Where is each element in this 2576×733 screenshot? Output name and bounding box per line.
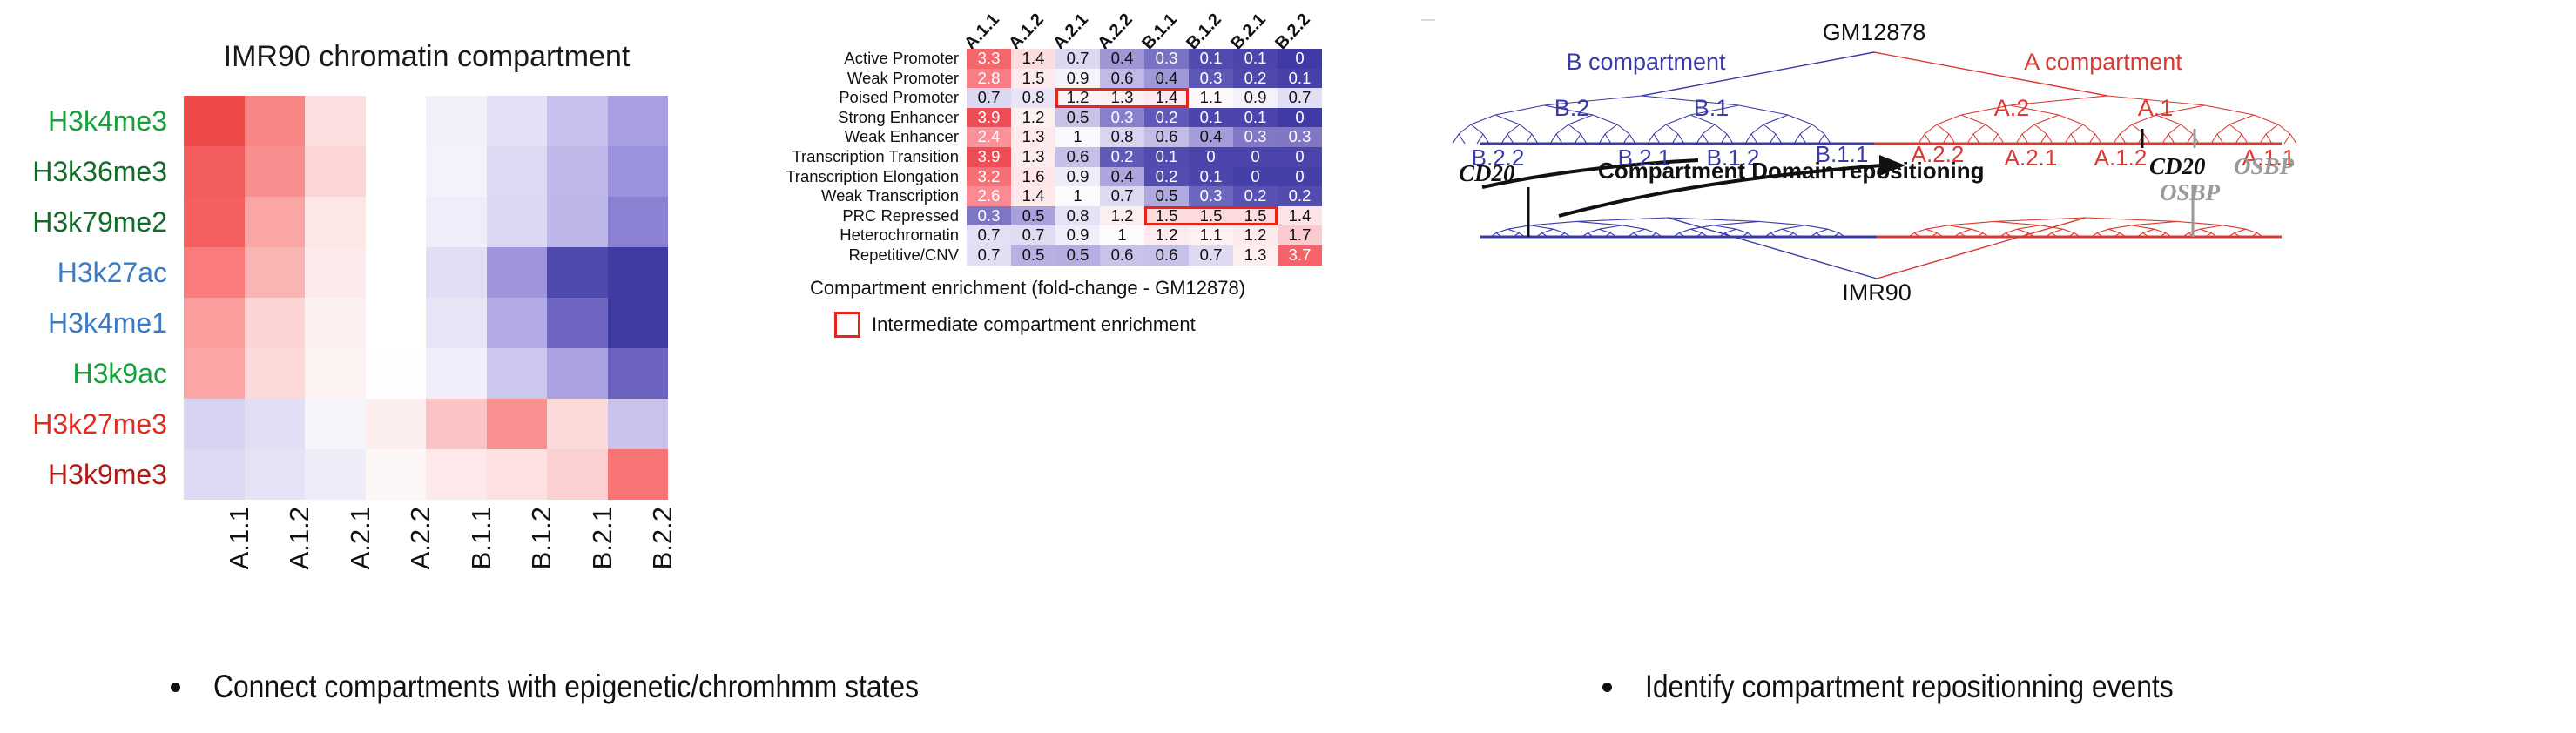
heatmap-cell (426, 449, 487, 500)
table-cell: 1.2 (1055, 88, 1100, 108)
dendrogram-branch (1605, 134, 1611, 144)
dendrogram-branch (1459, 124, 1471, 134)
table-cell: 0.5 (1055, 108, 1100, 128)
dendrogram-branch (2097, 229, 2108, 232)
dendrogram-branch (1477, 134, 1483, 144)
table-cell: 0.1 (1189, 49, 1233, 69)
label-b2: B.2 (1554, 95, 1590, 121)
table-row: Poised Promoter0.70.81.21.31.41.10.90.7 (723, 88, 1322, 108)
dendrogram-branch (1715, 124, 1727, 134)
dendrogram-branch (2155, 229, 2166, 232)
heatmap-cell (366, 399, 427, 449)
heatmap-column-label: A.1.2 (245, 503, 306, 616)
dendrogram-branch (2095, 134, 2101, 144)
label-b-compartment: B compartment (1566, 49, 1726, 75)
dendrogram-branch (2143, 229, 2155, 232)
table-cell: 0.7 (967, 245, 1011, 266)
dendrogram-branch (2181, 124, 2193, 134)
table-cell: 0.6 (1055, 147, 1100, 167)
table-cell: 0 (1278, 147, 1322, 167)
dendrogram-branch (1556, 134, 1562, 144)
dendrogram-branch (1568, 124, 1581, 134)
dendrogram-branch (2168, 124, 2181, 134)
label-cd20-bottom: CD20 (1459, 160, 1515, 186)
table-row-label: Weak Transcription (723, 186, 967, 206)
table-cell: 0.4 (1100, 49, 1144, 69)
dendrogram-branch (1554, 229, 1565, 232)
label-a21: A.2.1 (2005, 145, 2058, 171)
dendrogram-branch (1622, 225, 1645, 229)
table-legend: Intermediate compartment enrichment (834, 312, 1196, 338)
label-a1: A.1 (2138, 95, 2174, 121)
heatmap-cell (608, 348, 669, 399)
dendrogram-branch (1696, 134, 1703, 144)
table-row: Weak Promoter2.81.50.90.60.40.30.20.1 (723, 69, 1322, 89)
dendrogram-branch (1501, 134, 1507, 144)
dendrogram-branch (1994, 218, 2086, 221)
dendrogram-branch (2260, 134, 2266, 144)
table-row-label: Repetitive/CNV (723, 245, 967, 266)
heatmap-cell (487, 247, 548, 298)
table-cell: 0.7 (1189, 245, 1233, 266)
table-row-label: Heterochromatin (723, 225, 967, 245)
label-osbp-top: OSBP (2234, 153, 2295, 179)
heatmap-cell (366, 348, 427, 399)
dendrogram-branch (1599, 225, 1622, 229)
table-cell: 1.2 (1233, 225, 1278, 245)
dendrogram-branch (1794, 134, 1800, 144)
table-row-label: Weak Promoter (723, 69, 967, 89)
dendrogram-branch (1739, 105, 1788, 115)
heatmap-cell (608, 247, 669, 298)
table-cell: 0.4 (1189, 127, 1233, 147)
dendrogram-branch (1668, 218, 1877, 279)
heatmap-cell (366, 449, 427, 500)
heatmap-cell (487, 399, 548, 449)
heatmap-cell (184, 298, 245, 348)
dendrogram-branch (1668, 218, 1759, 221)
heatmap-cell (366, 96, 427, 146)
table-cell: 0.9 (1233, 88, 1278, 108)
dendrogram-branch (1992, 134, 1998, 144)
table-cell: 1 (1100, 225, 1144, 245)
dendrogram-branch (1542, 229, 1554, 232)
dendrogram-branch (2065, 134, 2071, 144)
table-cell: 0.9 (1055, 69, 1100, 89)
table-row: Repetitive/CNV0.70.50.50.60.60.71.33.7 (723, 245, 1322, 266)
table-cell: 0.9 (1055, 167, 1100, 187)
table-cell: 3.9 (967, 108, 1011, 128)
dendrogram-branch (1877, 218, 2086, 279)
dendrogram-branch (1576, 218, 1668, 221)
table-row-cells: 3.91.20.50.30.20.10.10 (967, 108, 1322, 128)
table-column-label: B.1.2 (1189, 7, 1233, 52)
dendrogram-branch (1599, 134, 1605, 144)
dendrogram-branch (1531, 221, 1577, 225)
table-cell: 0.3 (1233, 127, 1278, 147)
dendrogram-branch (1690, 229, 1702, 232)
dendrogram-branch (1782, 225, 1804, 229)
heatmap-cell (608, 399, 669, 449)
dendrogram-branch (1994, 221, 2040, 225)
table-row-label: PRC Repressed (723, 206, 967, 226)
table-row-label: Transcription Elongation (723, 167, 967, 187)
table-cell: 0.1 (1278, 69, 1322, 89)
dendrogram-branch (1770, 134, 1776, 144)
dendrogram-branch (2022, 124, 2034, 134)
dendrogram-branch (1459, 134, 1465, 144)
dendrogram-branch (1828, 229, 1839, 232)
dendrogram-branch (1593, 115, 1617, 124)
dendrogram-branch (1721, 134, 1727, 144)
dendrogram-branch (2177, 221, 2223, 225)
table-cell: 1 (1055, 127, 1100, 147)
table-cell: 0 (1278, 167, 1322, 187)
dendrogram-branch (2187, 134, 2193, 144)
heatmap-cell (366, 247, 427, 298)
heatmap-cell (245, 146, 306, 197)
dendrogram-branch (2120, 134, 2126, 144)
table-cell: 1.5 (1144, 206, 1189, 226)
table-column-label: A.2.2 (1100, 7, 1144, 52)
table-cell: 3.2 (967, 167, 1011, 187)
table-cell: 0.2 (1144, 167, 1189, 187)
table-cell: 0.3 (967, 206, 1011, 226)
dendrogram-branch (2059, 115, 2083, 124)
dendrogram-branch (1679, 229, 1690, 232)
dendrogram-branch (1678, 134, 1684, 144)
heatmap-column-label: A.2.1 (305, 503, 366, 616)
heatmap-cell (184, 399, 245, 449)
table-cell: 0.2 (1233, 186, 1278, 206)
table-cell: 0.2 (1278, 186, 1322, 206)
heatmap-cell (184, 197, 245, 247)
dendrogram-branch (1666, 124, 1678, 134)
table-cell: 1.3 (1011, 147, 1055, 167)
dendrogram-branch (1763, 115, 1788, 124)
heatmap-column-label: B.1.1 (426, 503, 487, 616)
table-cell: 0.7 (967, 88, 1011, 108)
dendrogram-branch (2284, 134, 2290, 144)
heatmap-cell (487, 96, 548, 146)
table-row-cells: 2.41.310.80.60.40.30.3 (967, 127, 1322, 147)
label-gm12878: GM12878 (1823, 19, 1926, 45)
dendrogram-branch (2034, 115, 2059, 124)
heatmap-cell (487, 197, 548, 247)
dendrogram-branch (1967, 134, 1973, 144)
heatmap-cell (245, 298, 306, 348)
dendrogram-branch (2034, 124, 2047, 134)
heatmap-column-label: B.2.1 (547, 503, 608, 616)
dendrogram-branch (1556, 124, 1568, 134)
table-row-cells: 0.70.81.21.31.41.10.90.7 (967, 88, 1322, 108)
table-row: Heterochromatin0.70.70.911.21.11.21.7 (723, 225, 1322, 245)
heatmap-row-label: H3k79me2 (0, 197, 176, 247)
table-row: Active Promoter3.31.40.70.40.30.10.10 (723, 49, 1322, 69)
table-cell: 1.7 (1278, 225, 1322, 245)
label-a2: A.2 (1994, 95, 2030, 121)
dendrogram-branch (2235, 134, 2242, 144)
dendrogram-branch (2229, 115, 2254, 124)
dendrogram-branch (1973, 124, 1986, 134)
heatmap-cell (184, 449, 245, 500)
dendrogram-branch (1937, 115, 1961, 124)
faint-tick-mark (1421, 19, 1435, 21)
dendrogram-branch (1648, 134, 1654, 144)
dendrogram-branch (1960, 229, 1972, 232)
heatmap-cell (184, 247, 245, 298)
heatmap-cell (305, 96, 366, 146)
table-cell: 0.7 (1278, 88, 1322, 108)
dendrogram-branch (2205, 105, 2254, 115)
dendrogram-branch (2089, 134, 2095, 144)
dendrogram-branch (1495, 115, 1520, 124)
table-cell: 1.3 (1100, 88, 1144, 108)
dendrogram-branch (1998, 134, 2004, 144)
heatmap-column-labels: A.1.1A.1.2A.2.1A.2.2B.1.1B.1.2B.2.1B.2.2 (184, 503, 668, 616)
table-cell: 1.5 (1011, 69, 1055, 89)
table-cell: 0.7 (1011, 225, 1055, 245)
table-cell: 0.2 (1144, 108, 1189, 128)
dendrogram-branch (1727, 134, 1733, 144)
table-cell: 0.9 (1055, 225, 1100, 245)
table-cell: 0.1 (1144, 147, 1189, 167)
table-cell: 0.6 (1100, 69, 1144, 89)
dendrogram-branch (2108, 229, 2120, 232)
table-cell: 0 (1233, 167, 1278, 187)
legend-swatch-intermediate (834, 312, 860, 338)
table-cell: 1.3 (1233, 245, 1278, 266)
table-row-cells: 2.61.410.70.50.30.20.2 (967, 186, 1322, 206)
heatmap-cell (487, 449, 548, 500)
dendrogram-branch (1961, 115, 1986, 124)
dendrogram-branch (1617, 124, 1629, 134)
table-cell: 0.8 (1100, 127, 1144, 147)
dendrogram-branch (2254, 115, 2278, 124)
heatmap-cell (305, 298, 366, 348)
heatmap-cell (366, 146, 427, 197)
table-cell: 0.7 (967, 225, 1011, 245)
heatmap-cell (245, 247, 306, 298)
heatmap-cell (245, 197, 306, 247)
heatmap-cell (426, 348, 487, 399)
table-row: Transcription Elongation3.21.60.90.40.20… (723, 167, 1322, 187)
table-row-label: Weak Enhancer (723, 127, 967, 147)
dendrogram-branch (2162, 134, 2168, 144)
dendrogram-branch (2246, 229, 2257, 232)
table-row-label: Transcription Transition (723, 147, 967, 167)
dendrogram-branch (1714, 225, 1736, 229)
dendrogram-branch (2229, 124, 2242, 134)
table-cell: 3.7 (1278, 245, 1322, 266)
heatmap-row-label: H3k36me3 (0, 146, 176, 197)
dendrogram-branch (1645, 229, 1656, 232)
table-cell: 0.3 (1278, 127, 1322, 147)
heatmap-cell (608, 96, 669, 146)
table-cell: 1.4 (1278, 206, 1322, 226)
heatmap-cell (547, 399, 608, 449)
heatmap-column-label: A.2.2 (366, 503, 427, 616)
dendrogram-branch (2132, 221, 2178, 225)
dendrogram-branch (1495, 105, 1544, 115)
dendrogram-branch (2108, 225, 2131, 229)
table-cell: 0.2 (1100, 147, 1144, 167)
dendrogram-branch (2016, 134, 2022, 144)
dendrogram-branch (1623, 134, 1629, 144)
dendrogram-branch (1763, 124, 1776, 134)
dendrogram-branch (2086, 218, 2177, 221)
table-cell: 0.3 (1100, 108, 1144, 128)
dendrogram-branch (1666, 115, 1690, 124)
dendrogram-branch (1526, 134, 1532, 144)
dendrogram-branch (2114, 134, 2120, 144)
table-cell: 0.3 (1189, 69, 1233, 89)
table-cell: 1.4 (1011, 49, 1055, 69)
dendrogram-branch (1496, 229, 1507, 232)
heatmap-cell (426, 399, 487, 449)
dendrogram-branch (2132, 225, 2155, 229)
dendrogram-branch (2242, 134, 2248, 144)
heatmap-row-label: H3k4me1 (0, 298, 176, 348)
table-column-label: A.1.1 (967, 7, 1011, 52)
table-row-cells: 0.70.70.911.21.11.21.7 (967, 225, 1322, 245)
dendrogram-branch (2168, 134, 2175, 144)
heatmap-cell (184, 146, 245, 197)
dendrogram-branch (2211, 134, 2217, 144)
table-cell: 0 (1278, 49, 1322, 69)
dendrogram-branch (1937, 124, 1949, 134)
table-cell: 0.4 (1100, 167, 1144, 187)
dendrogram-branch (1576, 221, 1622, 225)
dendrogram-branch (1736, 229, 1748, 232)
heatmap-cell (547, 146, 608, 197)
table-column-label: B.2.2 (1278, 7, 1322, 52)
heatmap-cell (487, 146, 548, 197)
heatmap-cell (305, 449, 366, 500)
table-cell: 0.1 (1233, 108, 1278, 128)
table-cell: 0.1 (1233, 49, 1278, 69)
heatmap-cell (184, 348, 245, 399)
dendrogram-branch (1654, 134, 1660, 144)
heatmap-row-label: H3k9ac (0, 348, 176, 399)
dendrogram-branch (1751, 124, 1763, 134)
dendrogram-branch (2052, 229, 2063, 232)
table-column-label: B.1.1 (1144, 7, 1189, 52)
dendrogram-branch (2278, 124, 2290, 134)
label-compartment-domain-repositioning: Compartment Domain repositioning (1598, 158, 1984, 184)
dendrogram-branch (1817, 229, 1828, 232)
heatmap-row-label: H3k9me3 (0, 449, 176, 500)
heatmap-cell (547, 449, 608, 500)
heatmap-cell (305, 247, 366, 298)
table-cell: 1.1 (1189, 88, 1233, 108)
dendrogram-branch (1788, 115, 1812, 124)
dendrogram-svg: GM12878 B compartment A compartment B.2 … (1446, 0, 2576, 662)
label-cd20-top: CD20 (2149, 153, 2206, 179)
heatmap-cell (245, 399, 306, 449)
heatmap-cell (547, 247, 608, 298)
heatmap-cell (608, 449, 669, 500)
dendrogram-branch (1914, 229, 1925, 232)
table-cell: 0 (1278, 108, 1322, 128)
dendrogram-branch (1453, 134, 1459, 144)
table-cell: 2.8 (967, 69, 1011, 89)
dendrogram-branch (1703, 134, 1709, 144)
dendrogram-branch (1805, 225, 1828, 229)
table-column-labels: A.1.1A.1.2A.2.1A.2.2B.1.1B.1.2B.2.1B.2.2 (967, 7, 1322, 52)
dendrogram-branch (2217, 124, 2229, 134)
table-row-cells: 3.21.60.90.40.20.100 (967, 167, 1322, 187)
table-row-cells: 0.70.50.50.60.60.71.33.7 (967, 245, 1322, 266)
dendrogram-branch (2188, 229, 2200, 232)
table-row-label: Strong Enhancer (723, 108, 967, 128)
dendrogram-branch (1672, 134, 1678, 144)
dendrogram-branch (2266, 124, 2278, 134)
table-cell: 3.3 (967, 49, 1011, 69)
dendrogram-branch (1782, 229, 1793, 232)
dendrogram-branch (1745, 134, 1751, 144)
heatmap-cell (608, 146, 669, 197)
heatmap-cell (487, 298, 548, 348)
dendrogram-branch (2071, 134, 2077, 144)
dendrogram-branch (1973, 134, 1979, 144)
dendrogram-branch (1800, 124, 1812, 134)
table-cell: 1.4 (1144, 88, 1189, 108)
dendrogram-branch (1714, 221, 1760, 225)
label-a12: A.1.2 (2094, 145, 2148, 171)
heatmap-cell (426, 298, 487, 348)
heatmap-row-label: H3k27me3 (0, 399, 176, 449)
heatmap-column-label: B.1.2 (487, 503, 548, 616)
table-cell: 3.9 (967, 147, 1011, 167)
table-row-cells: 3.31.40.70.40.30.10.10 (967, 49, 1322, 69)
dendrogram-branch (1925, 124, 1937, 134)
label-a-compartment: A compartment (2024, 49, 2182, 75)
dendrogram-branch (2235, 229, 2246, 232)
heatmap-row-labels: H3k4me3H3k36me3H3k79me2H3k27acH3k4me1H3k… (0, 96, 176, 500)
dendrogram-branch (1531, 225, 1554, 229)
dendrogram-branch (1972, 229, 1983, 232)
table-cell: 0.6 (1144, 127, 1189, 147)
table-cell: 0.4 (1144, 69, 1189, 89)
table-cell: 0.1 (1189, 167, 1233, 187)
table-cell: 0.6 (1100, 245, 1144, 266)
dendrogram-branch (1759, 221, 1805, 225)
table-cell: 0.5 (1011, 206, 1055, 226)
table-cell: 0.5 (1055, 245, 1100, 266)
dendrogram-branch (1751, 134, 1757, 144)
dendrogram-branch (1654, 124, 1666, 134)
dendrogram-branch (1483, 134, 1489, 144)
table-cell: 1.1 (1189, 225, 1233, 245)
heatmap-column-label: B.2.2 (608, 503, 669, 616)
table-cell: 1.2 (1144, 225, 1189, 245)
table-cell: 1.4 (1011, 186, 1055, 206)
dendrogram-branch (1507, 229, 1519, 232)
heatmap-cell (305, 197, 366, 247)
table-row-cells: 3.91.30.60.20.1000 (967, 147, 1322, 167)
table-row: Strong Enhancer3.91.20.50.30.20.10.10 (723, 108, 1322, 128)
table-cell: 0.7 (1055, 49, 1100, 69)
label-b1: B.1 (1694, 95, 1730, 121)
table-cell: 1.2 (1100, 206, 1144, 226)
dendrogram-branch (2040, 134, 2047, 144)
bullet-row-1: Connect compartments with epigenetic/chr… (171, 669, 1034, 705)
dendrogram-branch (1605, 124, 1617, 134)
dendrogram-branch (1575, 134, 1581, 144)
bottom-dendrogram-lines (1480, 218, 2282, 279)
left-panel-heatmap: IMR90 chromatin compartment H3k4me3H3k36… (0, 0, 723, 662)
